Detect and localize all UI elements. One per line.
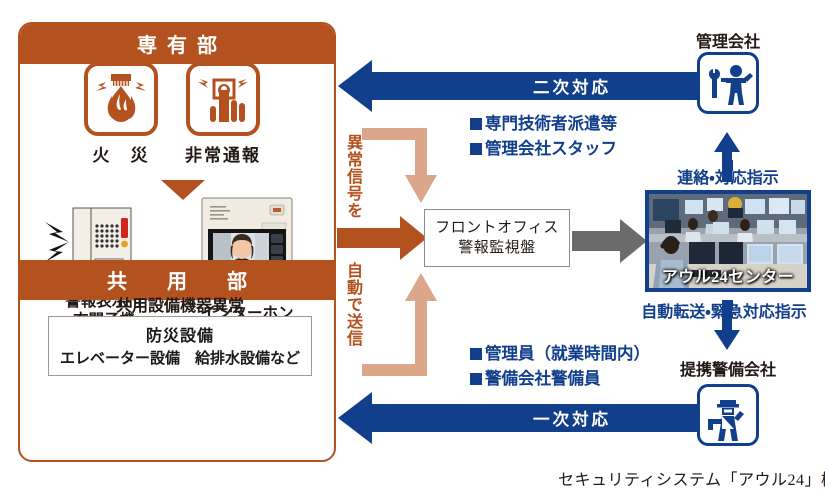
secondary-response-band-label: 二次対応 xyxy=(462,74,682,98)
owl24-center-photo: アウル24センター xyxy=(645,190,811,292)
private-area-band: 専有部 xyxy=(20,24,334,64)
bullet-text: 管理会社スタッフ xyxy=(485,139,617,158)
common-equipment-line1: 防災設備 xyxy=(53,322,307,346)
diagram-canvas: 専有部 xyxy=(0,0,825,504)
common-equipment-box: 防災設備 エレベーター設備 給排水設備など xyxy=(48,316,312,376)
front-office-line2: 警報監視盤 xyxy=(458,238,536,258)
front-office-box: フロントオフィス 警報監視盤 xyxy=(424,209,570,267)
fire-icon xyxy=(84,62,158,136)
emergency-call-icon xyxy=(186,62,260,136)
salmon-path-lower xyxy=(362,273,437,376)
primary-response-band-label: 一次対応 xyxy=(462,406,682,430)
bullet-text: 管理員（就業時間内） xyxy=(485,344,650,363)
management-company-label: 管理会社 xyxy=(655,28,801,52)
owl-center-instruction-below: 自動転送・緊急対応指示 xyxy=(624,298,824,322)
common-area-subtitle: 共用設備機器異常 xyxy=(38,292,322,316)
signal-text-bottom: 自動で送信 xyxy=(344,262,360,347)
common-equipment-line2: エレベーター設備 給排水設備など xyxy=(53,347,307,368)
figure-caption: セキュリティシステム「アウル24」概念図 xyxy=(558,466,825,490)
orange-signal-arrow xyxy=(337,216,427,260)
bullet-text: 専門技術者派遣等 xyxy=(485,114,617,133)
hazard-emergency-label: 非常通報 xyxy=(178,141,268,166)
owl-center-instruction-above: 連絡・対応指示 xyxy=(640,164,816,188)
security-company-label: 提携警備会社 xyxy=(640,356,816,380)
hazard-fire-label: 火 災 xyxy=(76,141,166,166)
bullet-square-icon xyxy=(470,348,482,360)
owl-center-caption: アウル24センター xyxy=(649,263,807,288)
bullet-item: 管理員（就業時間内） xyxy=(470,343,650,364)
front-office-line1: フロントオフィス xyxy=(435,218,559,238)
primary-response-bullets: 管理員（就業時間内） 警備会社警備員 xyxy=(470,343,650,390)
security-guard-icon xyxy=(697,384,759,446)
bullet-text: 警備会社警備員 xyxy=(485,369,601,388)
bullet-item: 警備会社警備員 xyxy=(470,368,650,389)
bullet-square-icon xyxy=(470,118,482,130)
bullet-square-icon xyxy=(470,143,482,155)
secondary-response-bullets: 専門技術者派遣等 管理会社スタッフ xyxy=(470,113,617,160)
bullet-square-icon xyxy=(470,373,482,385)
hazard-fire: 火 災 xyxy=(76,62,166,166)
salmon-path-upper xyxy=(362,128,437,203)
hazard-emergency: 非常通報 xyxy=(178,62,268,166)
bullet-item: 専門技術者派遣等 xyxy=(470,113,617,134)
signal-text-top: 異常信号を xyxy=(344,134,360,219)
bullet-item: 管理会社スタッフ xyxy=(470,138,617,159)
worker-with-wrench-icon xyxy=(697,52,759,114)
gray-arrow-to-center xyxy=(572,219,647,263)
building-panel: 専有部 xyxy=(18,22,336,462)
